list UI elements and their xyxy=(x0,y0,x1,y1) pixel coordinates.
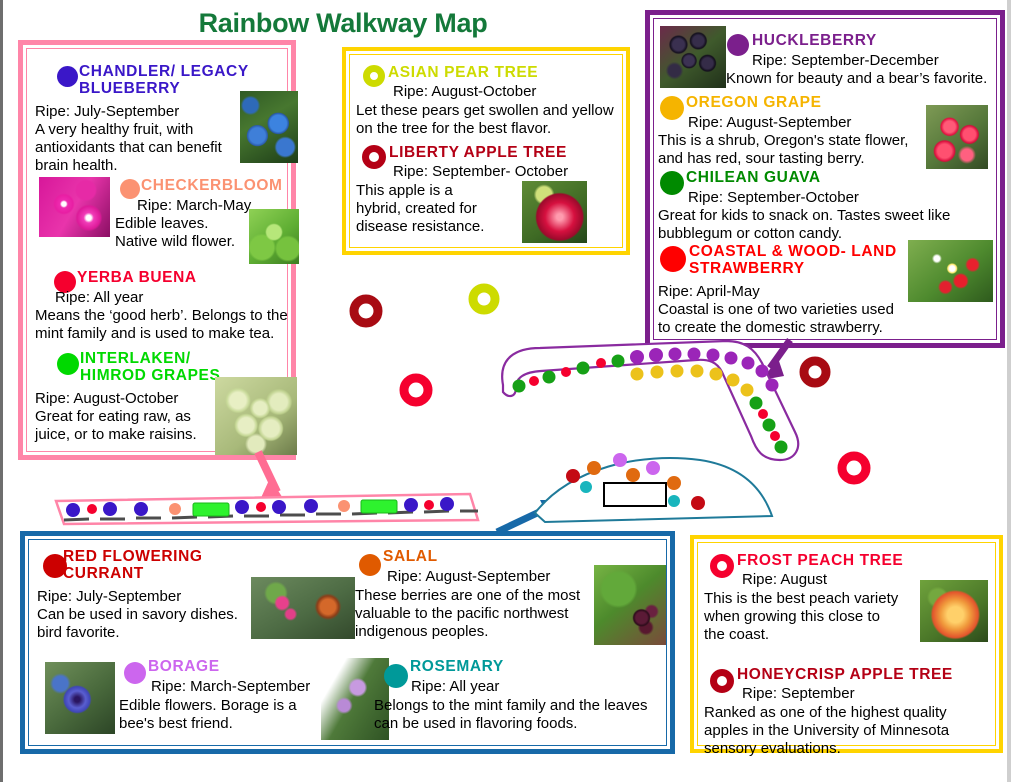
entry-frost-peach-desc: This is the best peach variety when grow… xyxy=(704,590,904,644)
entry-checkerbloom: CHECKERBLOOM xyxy=(141,177,301,194)
entry-title-liberty-apple: LIBERTY APPLE TREE xyxy=(389,144,624,161)
entry-liberty-apple: LIBERTY APPLE TREE xyxy=(389,144,624,161)
entry-oregon-grape-text: Ripe: August-September xyxy=(668,114,908,132)
pink-strip-path xyxy=(56,494,478,524)
bullet-dot-checkerbloom xyxy=(120,179,140,199)
ripe-yerba: Ripe: All year xyxy=(55,289,265,307)
ripe-blueberry: Ripe: July-September xyxy=(35,103,250,121)
entry-checkerbloom-text: Ripe: March-May xyxy=(117,197,252,215)
desc-checkerbloom: Edible leaves. Native wild flower. xyxy=(115,215,245,251)
entry-oregon-grape: OREGON GRAPE xyxy=(686,94,906,111)
entry-liberty-apple-desc: This apple is a hybrid, created for dise… xyxy=(356,182,496,236)
entry-huckleberry-desc: Known for beauty and a bear’s favorite. xyxy=(726,70,1008,88)
entry-rosemary: ROSEMARY xyxy=(410,658,580,675)
ripe-huckleberry: Ripe: September-December xyxy=(732,52,992,70)
yellow-top-panel: ASIAN PEAR TREE Ripe: August-October Let… xyxy=(342,47,630,255)
desc-strawberry: Coastal is one of two varieties used to … xyxy=(658,301,898,337)
desc-oregon-grape: This is a shrub, Oregon's state flower, … xyxy=(658,132,920,168)
ring-dark-red-left xyxy=(354,299,378,323)
entry-chilean-guava-desc: Great for kids to snack on. Tastes sweet… xyxy=(658,207,968,243)
currant-photo xyxy=(251,577,355,639)
entry-title-strawberry: COASTAL & WOOD- LAND STRAWBERRY xyxy=(689,243,904,277)
ripe-salal: Ripe: August-September xyxy=(367,568,587,586)
desc-borage: Edible flowers. Borage is a bee's best f… xyxy=(119,697,319,733)
blue-panel: RED FLOWERING CURRANT Ripe: July-Septemb… xyxy=(20,531,675,754)
entry-salal-desc: These berries are one of the most valuab… xyxy=(355,587,590,641)
desc-rosemary: Belongs to the mint family and the leave… xyxy=(374,697,669,733)
yellow-bottom-panel: FROST PEACH TREE Ripe: August This is th… xyxy=(690,535,1003,753)
desc-chilean-guava: Great for kids to snack on. Tastes sweet… xyxy=(658,207,968,243)
entry-yerba-desc: Means the ‘good herb’. Belongs to the mi… xyxy=(35,307,293,343)
entry-frost-peach-text: Ripe: August xyxy=(722,571,922,589)
entry-title-huckleberry: HUCKLEBERRY xyxy=(752,32,972,49)
ripe-oregon-grape: Ripe: August-September xyxy=(668,114,908,132)
ripe-asian-pear: Ripe: August-October xyxy=(373,83,603,101)
entry-yerba: YERBA BUENA xyxy=(77,269,277,286)
bullet-dot-strawberry xyxy=(660,246,686,272)
borage-photo xyxy=(45,662,115,734)
ripe-chilean-guava: Ripe: September-October xyxy=(668,189,908,207)
blue-arrow-to-arc xyxy=(497,500,562,532)
entry-borage-desc: Edible flowers. Borage is a bee's best f… xyxy=(119,697,319,733)
arc-label-box xyxy=(604,483,666,506)
entry-frost-peach: FROST PEACH TREE xyxy=(737,552,967,569)
desc-honeycrisp: Ranked as one of the highest quality app… xyxy=(704,704,992,758)
map-page: Rainbow Walkway Map CHANDLER/ LEGACY BLU… xyxy=(0,0,1011,782)
entry-borage: BORAGE xyxy=(148,658,308,675)
entry-title-borage: BORAGE xyxy=(148,658,308,675)
entry-title-currant: RED FLOWERING CURRANT xyxy=(63,548,253,582)
entry-title-salal: SALAL xyxy=(383,548,563,565)
ripe-honeycrisp: Ripe: September xyxy=(722,685,922,703)
page-right-edge xyxy=(1007,0,1011,782)
bullet-dot-blueberry xyxy=(57,66,78,87)
ripe-borage: Ripe: March-September xyxy=(131,678,341,696)
entry-chilean-guava: CHILEAN GUAVA xyxy=(686,169,906,186)
ring-red-mid xyxy=(404,378,428,402)
entry-title-checkerbloom: CHECKERBLOOM xyxy=(141,177,301,194)
entry-salal: SALAL xyxy=(383,548,563,565)
entry-rosemary-desc: Belongs to the mint family and the leave… xyxy=(374,697,669,733)
ripe-checkerbloom: Ripe: March-May xyxy=(117,197,252,215)
ripe-liberty-apple: Ripe: September- October xyxy=(373,163,613,181)
ripe-strawberry: Ripe: April-May xyxy=(658,283,898,301)
entry-currant: RED FLOWERING CURRANT xyxy=(63,548,253,582)
entry-title-honeycrisp: HONEYCRISP APPLE TREE xyxy=(737,666,1011,683)
entry-title-rosemary: ROSEMARY xyxy=(410,658,580,675)
blueberry-photo xyxy=(240,91,298,163)
desc-currant: Can be used in savory dishes. bird favor… xyxy=(37,606,257,642)
apple-photo xyxy=(522,181,587,243)
huckleberry-photo xyxy=(660,26,726,88)
entry-title-yerba: YERBA BUENA xyxy=(77,269,277,286)
entry-liberty-apple-text: Ripe: September- October xyxy=(373,163,613,181)
ring-red-lower xyxy=(842,456,866,480)
desc-liberty-apple: This apple is a hybrid, created for dise… xyxy=(356,182,496,236)
purple-walkway-path xyxy=(502,341,798,460)
entry-title-asian-pear: ASIAN PEAR TREE xyxy=(388,64,618,81)
desc-grapes: Great for eating raw, as juice, or to ma… xyxy=(35,408,200,444)
desc-blueberry: A very healthy fruit, with antioxidants … xyxy=(35,121,250,175)
salal-photo xyxy=(594,565,666,645)
entry-rosemary-text: Ripe: All year xyxy=(391,678,601,696)
ripe-rosemary: Ripe: All year xyxy=(391,678,601,696)
entry-chilean-guava-text: Ripe: September-October xyxy=(668,189,908,207)
entry-honeycrisp-desc: Ranked as one of the highest quality app… xyxy=(704,704,992,758)
page-title: Rainbow Walkway Map xyxy=(178,8,508,39)
entry-checkerbloom-desc: Edible leaves. Native wild flower. xyxy=(115,215,245,251)
desc-huckleberry: Known for beauty and a bear’s favorite. xyxy=(726,70,1008,88)
entry-asian-pear-desc: Let these pears get swollen and yellow o… xyxy=(356,102,628,138)
entry-asian-pear-text: Ripe: August-October xyxy=(373,83,603,101)
oregon-grape-photo xyxy=(926,105,988,169)
checkerbloom-photo xyxy=(39,177,110,237)
entry-honeycrisp-text: Ripe: September xyxy=(722,685,922,703)
bullet-dot-grapes xyxy=(57,353,79,375)
ripe-frost-peach: Ripe: August xyxy=(722,571,922,589)
entry-strawberry: COASTAL & WOOD- LAND STRAWBERRY xyxy=(689,243,904,277)
teal-arc-path xyxy=(535,453,772,522)
entry-huckleberry: HUCKLEBERRY xyxy=(752,32,972,49)
entry-honeycrisp: HONEYCRISP APPLE TREE xyxy=(737,666,1011,683)
pink-panel: CHANDLER/ LEGACY BLUEBERRY Ripe: July-Se… xyxy=(18,40,296,460)
entry-grapes-text: Ripe: August-October Great for eating ra… xyxy=(35,390,200,444)
ripe-grapes: Ripe: August-October xyxy=(35,390,200,408)
entry-oregon-grape-desc: This is a shrub, Oregon's state flower, … xyxy=(658,132,920,168)
entry-title-oregon-grape: OREGON GRAPE xyxy=(686,94,906,111)
entry-title-chilean-guava: CHILEAN GUAVA xyxy=(686,169,906,186)
mint-photo xyxy=(249,209,299,264)
grapes-photo xyxy=(215,377,297,455)
entry-blueberry-text: Ripe: July-September A very healthy frui… xyxy=(35,103,250,175)
entry-borage-text: Ripe: March-September xyxy=(131,678,341,696)
strawberry-photo xyxy=(908,240,993,302)
desc-salal: These berries are one of the most valuab… xyxy=(355,587,590,641)
entry-strawberry-text: Ripe: April-May Coastal is one of two va… xyxy=(658,283,898,337)
purple-panel: HUCKLEBERRY Ripe: September-December Kno… xyxy=(645,10,1005,348)
desc-yerba: Means the ‘good herb’. Belongs to the mi… xyxy=(35,307,293,343)
peach-photo xyxy=(920,580,988,642)
entry-huckleberry-text: Ripe: September-December xyxy=(732,52,992,70)
entry-salal-text: Ripe: August-September xyxy=(367,568,587,586)
entry-yerba-text: Ripe: All year xyxy=(55,289,265,307)
desc-frost-peach: This is the best peach variety when grow… xyxy=(704,590,904,644)
entry-asian-pear: ASIAN PEAR TREE xyxy=(388,64,618,81)
ring-yellow-green xyxy=(473,288,495,310)
entry-title-frost-peach: FROST PEACH TREE xyxy=(737,552,967,569)
desc-asian-pear: Let these pears get swollen and yellow o… xyxy=(356,102,628,138)
ripe-currant: Ripe: July-September xyxy=(37,588,257,606)
page-left-edge xyxy=(0,0,3,782)
ring-dark-red-right xyxy=(804,361,826,383)
entry-currant-text: Ripe: July-September Can be used in savo… xyxy=(37,588,257,642)
